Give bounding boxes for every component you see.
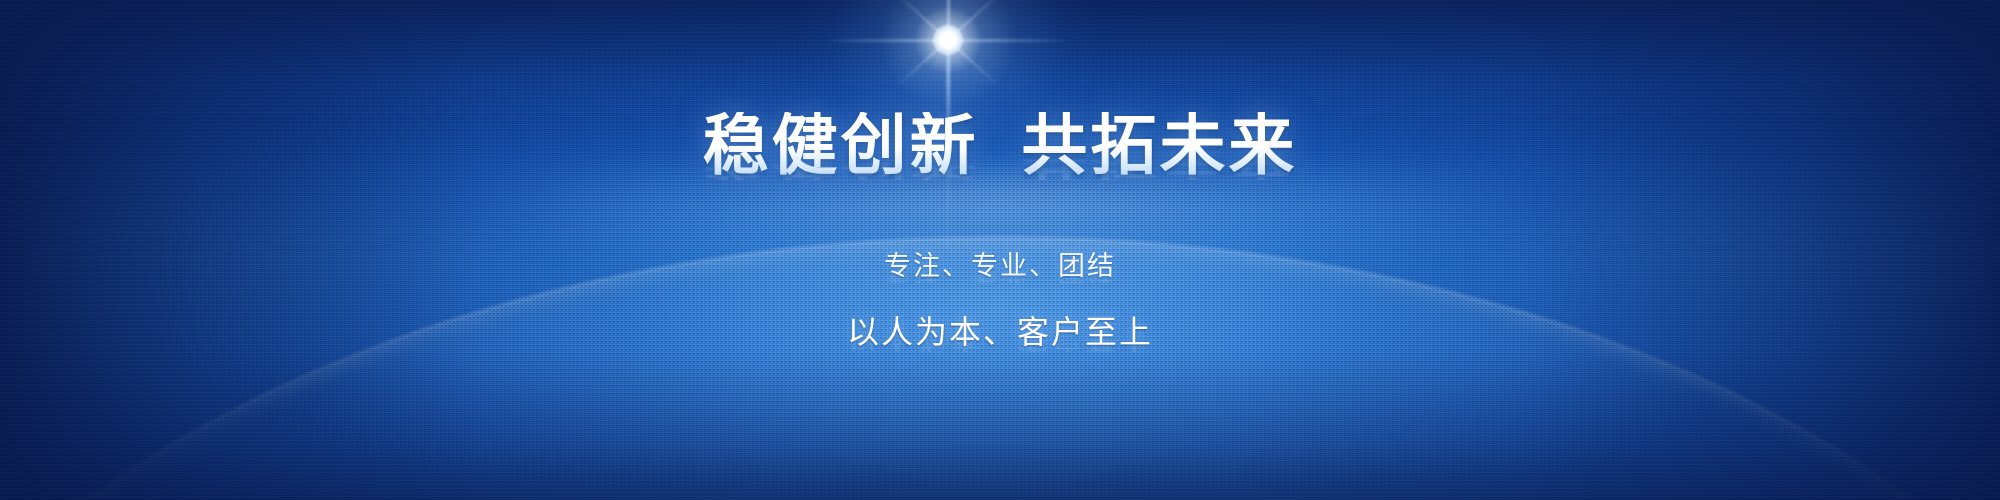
- subtitle-cn-2: 以人为本、客户至上: [0, 316, 2000, 348]
- banner-content: 稳健创新 共拓未来 稳健创新 共拓未来 专注、专业、团结 专注、专业、团结 以人…: [0, 0, 2000, 500]
- hero-banner: 稳健创新 共拓未来 稳健创新 共拓未来 专注、专业、团结 专注、专业、团结 以人…: [0, 0, 2000, 500]
- subtitle-cn-2-block: 以人为本、客户至上 FOCUS,PROFESSIONAL,INNOVATION …: [0, 316, 2000, 348]
- subtitle-cn-1-block: 专注、专业、团结: [0, 253, 2000, 280]
- subtitle-cn-1: 专注、专业、团结: [0, 253, 2000, 280]
- headline-block: 稳健创新 共拓未来: [0, 112, 2000, 178]
- banner-headline: 稳健创新 共拓未来: [0, 112, 2000, 178]
